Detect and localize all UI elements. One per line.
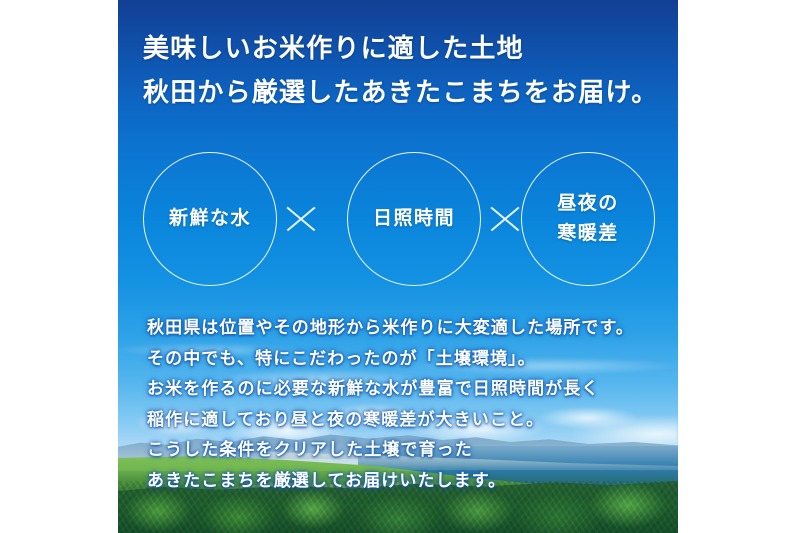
headline: 美味しいお米作りに適した土地 秋田から厳選したあきたこまちをお届け。 xyxy=(143,26,659,114)
body-line-4: 稲作に適しており昼と夜の寒暖差が大きいこと。 xyxy=(147,405,652,436)
screenshot-canvas: 美味しいお米作りに適した土地 秋田から厳選したあきたこまちをお届け。 新鮮な水 … xyxy=(0,0,800,533)
body-line-1: 秋田県は位置やその地形から米作りに大変適した場所です。 xyxy=(147,313,652,344)
body-line-6: あきたこまちを厳選してお届けいたします。 xyxy=(147,466,652,497)
body-paragraph: 秋田県は位置やその地形から米作りに大変適した場所です。 その中でも、特にこだわっ… xyxy=(147,313,652,496)
headline-line-2: 秋田から厳選したあきたこまちをお届け。 xyxy=(143,70,659,114)
body-line-2: その中でも、特にこだわったのが「土壌環境」。 xyxy=(147,344,652,375)
factor-circle-sunshine-hours: 日照時間 xyxy=(347,152,481,286)
body-line-3: お米を作るのに必要な新鮮な水が豊富で日照時間が長く xyxy=(147,374,652,405)
factor-circle-label: 昼夜の 寒暖差 xyxy=(557,189,619,249)
promo-banner: 美味しいお米作りに適した土地 秋田から厳選したあきたこまちをお届け。 新鮮な水 … xyxy=(118,0,678,533)
factor-circle-label: 新鮮な水 xyxy=(169,204,251,234)
factor-circle-row: 新鮮な水 日照時間 昼夜の 寒暖差 xyxy=(118,150,678,290)
factor-circle-fresh-water: 新鮮な水 xyxy=(143,152,277,286)
multiply-icon xyxy=(487,201,523,237)
multiply-icon xyxy=(283,201,319,237)
factor-circle-label: 日照時間 xyxy=(373,204,455,234)
body-line-5: こうした条件をクリアした土壌で育った xyxy=(147,435,652,466)
headline-line-1: 美味しいお米作りに適した土地 xyxy=(143,26,659,70)
factor-circle-temperature-range: 昼夜の 寒暖差 xyxy=(521,152,655,286)
